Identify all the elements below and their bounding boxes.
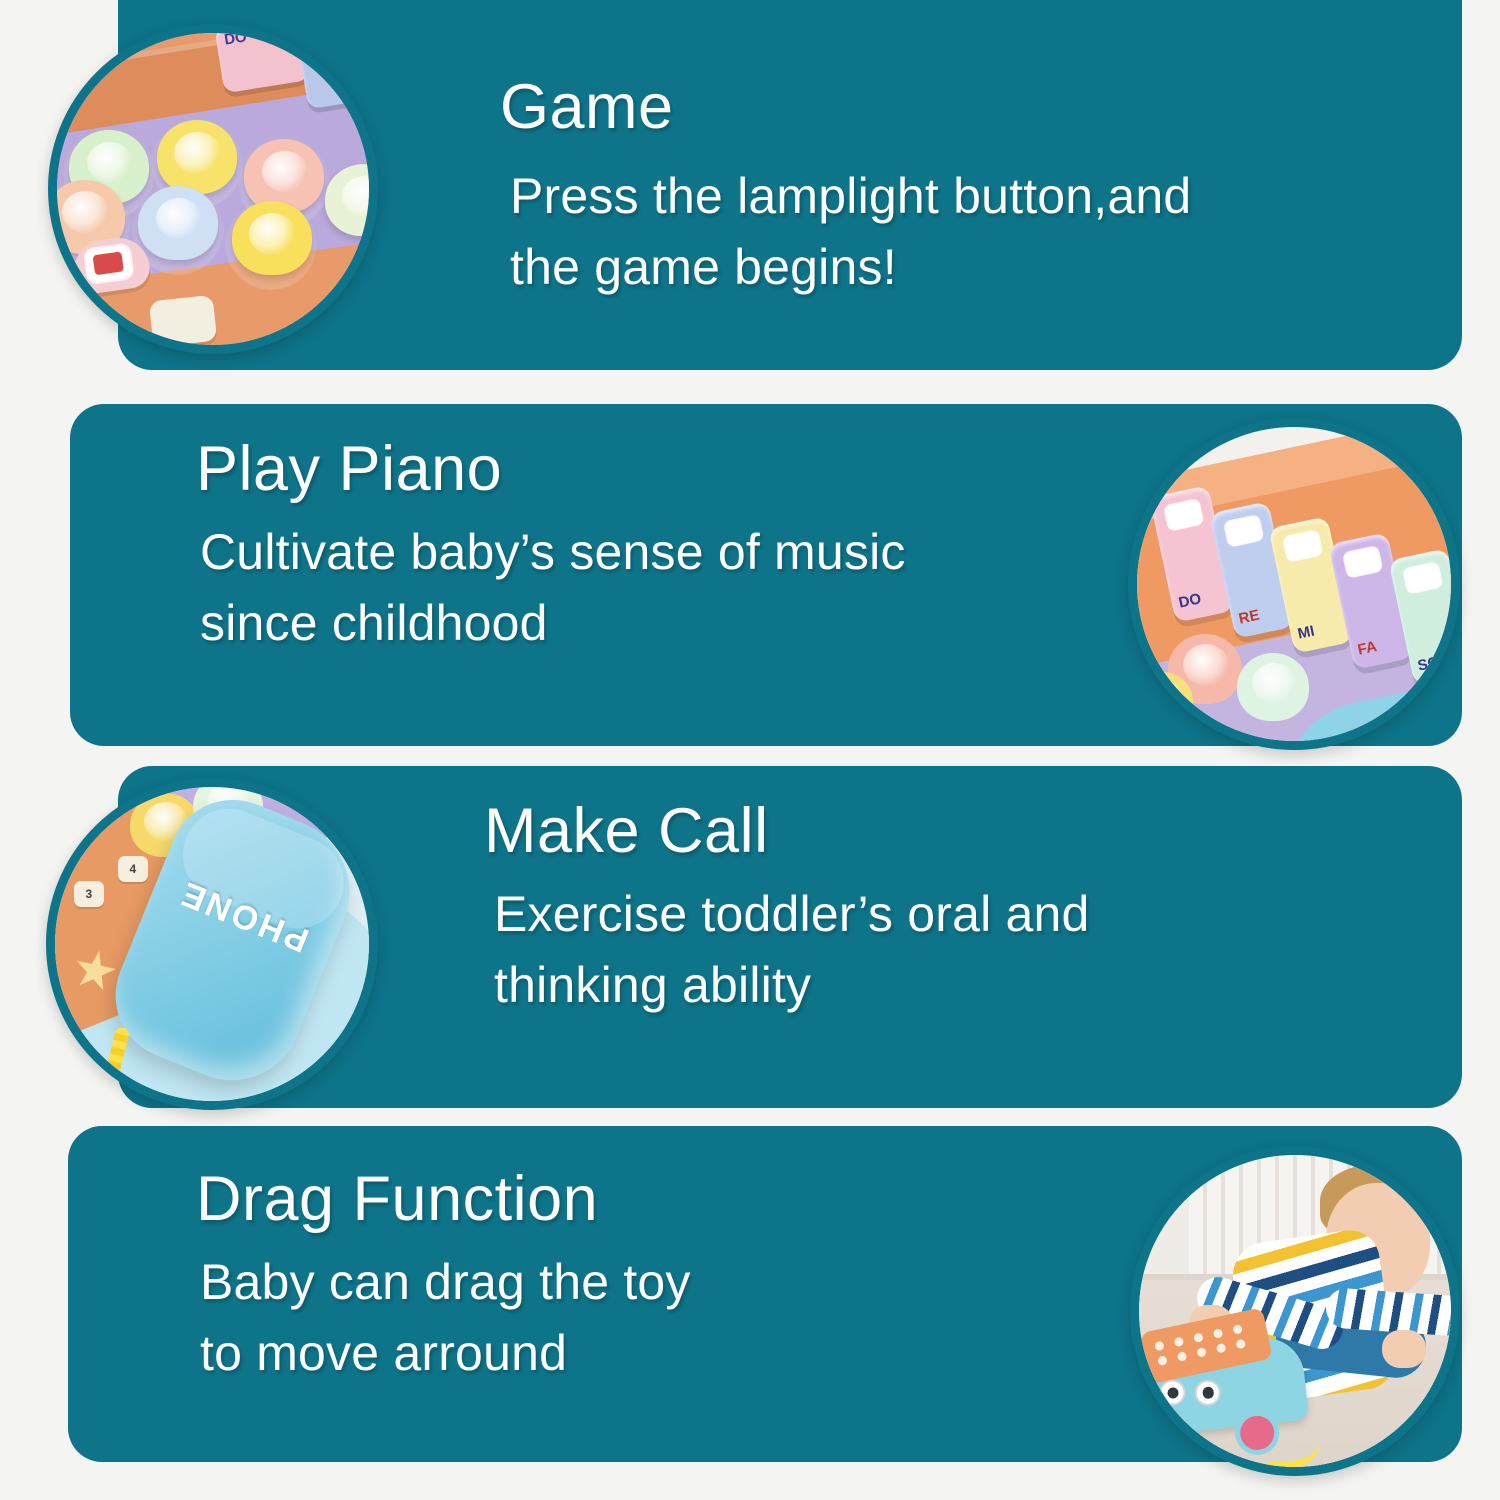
panel-body-drag-function: Baby can drag the toy to move arround (200, 1247, 691, 1389)
lamplight-button-mint-icon (1237, 653, 1309, 721)
panel-title-play-piano: Play Piano (196, 438, 906, 501)
feature-text-play-piano: Play Piano Cultivate baby’s sense of mus… (196, 438, 906, 659)
panel-body-line: the game begins! (510, 232, 1191, 303)
panel-body-play-piano: Cultivate baby’s sense of music since ch… (200, 517, 906, 659)
panel-body-line: Exercise toddler’s oral and (494, 879, 1090, 950)
lamplight-button-yellow-icon (1137, 672, 1193, 730)
panel-body-game: Press the lamplight button,and the game … (510, 161, 1191, 303)
photo-bubble-toy-phone: 3 4 PHONE (46, 778, 378, 1110)
feature-text-make-call: Make Call Exercise toddler’s oral and th… (484, 800, 1090, 1021)
panel-body-line: Baby can drag the toy (200, 1247, 691, 1318)
panel-body-make-call: Exercise toddler’s oral and thinking abi… (494, 879, 1090, 1021)
lamplight-button-blue-icon (138, 186, 218, 260)
panel-body-line: Press the lamplight button,and (510, 161, 1191, 232)
feature-text-game: Game Press the lamplight button,and the … (500, 76, 1191, 303)
keypad-number-4-icon: 4 (118, 856, 148, 882)
lamplight-button-yellow2-icon (232, 201, 312, 275)
panel-title-game: Game (500, 76, 1191, 139)
panel-body-line: Cultivate baby’s sense of music (200, 517, 906, 588)
feature-text-drag-function: Drag Function Baby can drag the toy to m… (196, 1168, 691, 1389)
keypad-number-3-icon: 3 (74, 881, 104, 907)
photo-bubble-piano-keys: DO RE MI FA SOL (1128, 418, 1460, 750)
child-right-hand (1382, 1330, 1426, 1368)
panel-title-make-call: Make Call (484, 800, 1090, 863)
toy-eye-icon (1161, 1381, 1185, 1405)
piano-key-re-icon: RE (299, 33, 369, 109)
panel-body-line: thinking ability (494, 950, 1090, 1021)
toy-phone-car-icon (1141, 1334, 1309, 1436)
panel-title-drag-function: Drag Function (196, 1168, 691, 1231)
photo-bubble-lamplight-buttons: DO RE (48, 24, 378, 354)
photo-bubble-toddler-playing (1130, 1146, 1460, 1476)
toy-eye-icon (1196, 1381, 1220, 1405)
panel-body-line: since childhood (200, 588, 906, 659)
triangle-button-icon (148, 295, 216, 345)
panel-body-line: to move arround (200, 1318, 691, 1389)
lamplight-button-yellow-icon (157, 120, 237, 194)
